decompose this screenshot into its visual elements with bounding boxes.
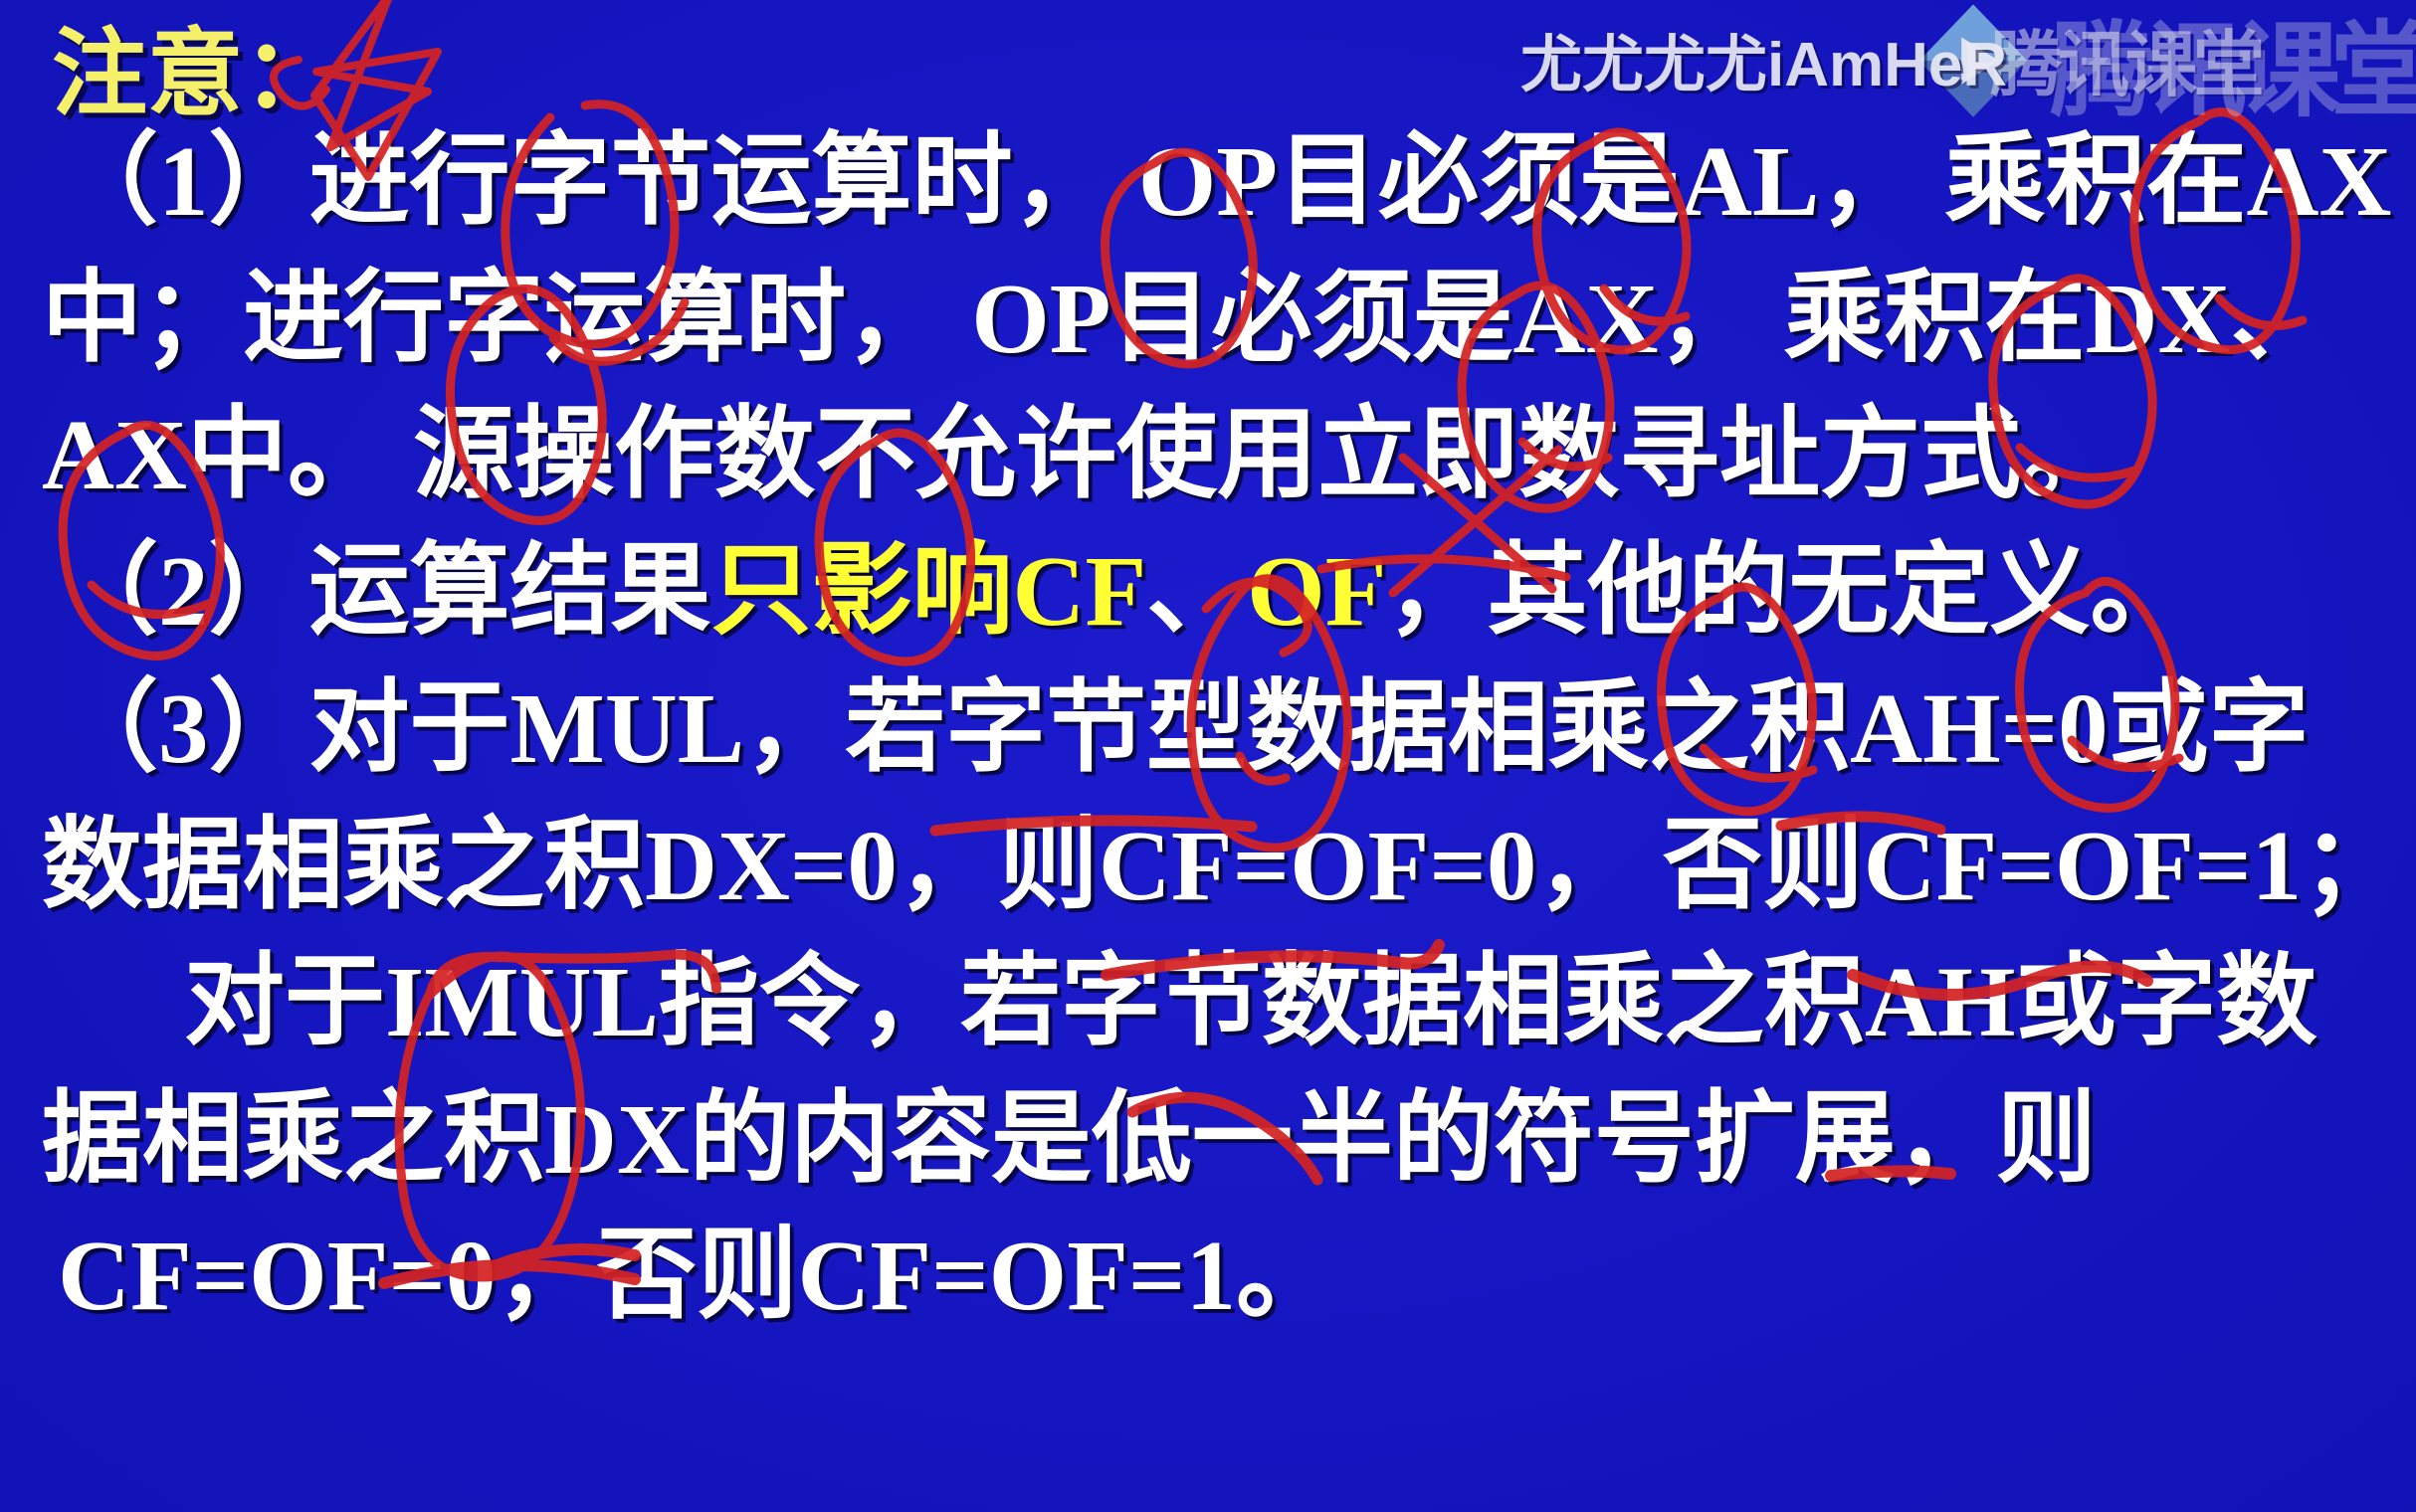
- watermark-username: 尤尤尤尤iAmHeR: [1520, 14, 2007, 103]
- slide-line-5: （3）对于MUL，若字节型数据相乘之积AH=0或字: [58, 647, 2310, 792]
- slide-text-layer: 注意： （1）进行字节运算时， OP目必须是AL， 乘积在AX 中；进行字运算时…: [0, 0, 2416, 1512]
- slide-line-4-highlight-cf: 只影响CF: [711, 535, 1147, 647]
- lecture-slide-screenshot: 注意： （1）进行字节运算时， OP目必须是AL， 乘积在AX 中；进行字运算时…: [0, 0, 2416, 1512]
- slide-line-3: AX中。 源操作数不允许使用立即数寻址方式。: [42, 373, 2121, 518]
- slide-line-6: 数据相乘之积DX=0，则CF=OF=0， 否则CF=OF=1；: [42, 784, 2402, 929]
- watermark-brand: 腾讯课堂: [1990, 6, 2261, 110]
- slide-line-8: 据相乘之积DX的内容是低一半的符号扩展，则: [42, 1057, 2097, 1203]
- slide-line-1: （1）进行字节运算时， OP目必须是AL， 乘积在AX: [58, 99, 2391, 245]
- slide-line-4: （2）运算结果只影响CF、OF，其他的无定义。: [58, 509, 2190, 655]
- slide-line-7: 对于IMUL指令，若字节数据相乘之积AH或字数: [184, 920, 2316, 1065]
- slide-line-9: CF=OF=0，否则CF=OF=1。: [58, 1194, 1336, 1339]
- slide-line-4-highlight-of: OF: [1247, 535, 1386, 647]
- slide-line-4-part-c: 、: [1146, 535, 1247, 647]
- slide-line-4-part-e: ，其他的无定义。: [1386, 535, 2190, 647]
- slide-line-2: 中；进行字运算时， OP目必须是AX， 乘积在DX、: [42, 237, 2331, 382]
- slide-line-4-part-a: （2）运算结果: [58, 535, 711, 647]
